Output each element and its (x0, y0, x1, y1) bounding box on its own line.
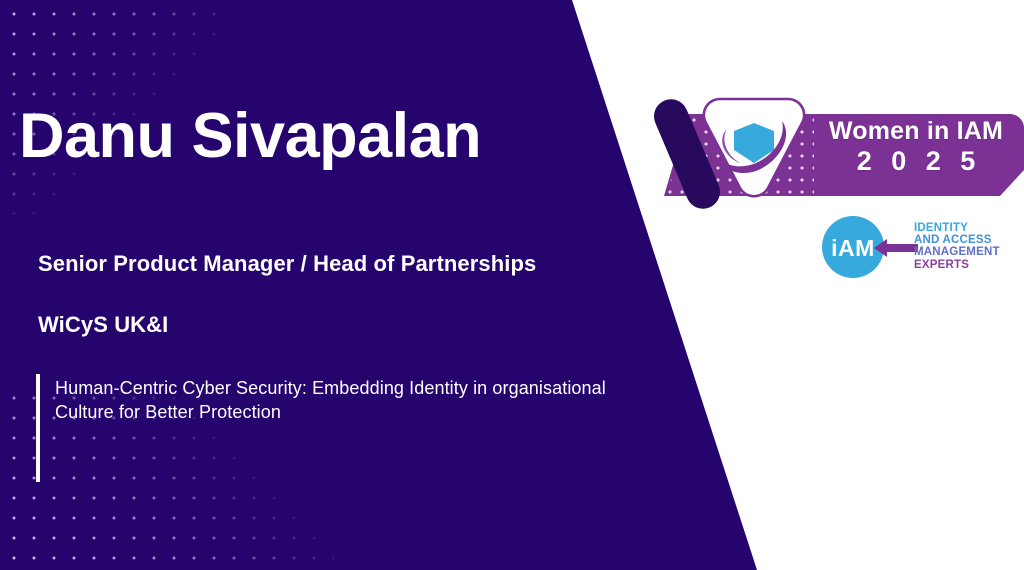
sponsor-tagline-line-2: AND ACCESS (914, 234, 1022, 246)
sponsor-tagline: IDENTITY AND ACCESS MANAGEMENT EXPERTS (914, 222, 1022, 271)
badge-year: 2 0 2 5 (816, 146, 1016, 177)
event-badge: Women in IAM 2 0 2 5 (664, 96, 1024, 201)
shield-orbit-icon (698, 93, 810, 203)
sponsor-tagline-line-3: MANAGEMENT (914, 246, 1022, 258)
speaker-slide: Danu Sivapalan Senior Product Manager / … (0, 0, 1024, 570)
left-arrow-icon (874, 238, 918, 258)
sponsor-tagline-line-1: IDENTITY (914, 222, 1022, 234)
speaker-organisation: WiCyS UK&I (38, 312, 168, 338)
title-accent-bar (36, 374, 40, 482)
speaker-name: Danu Sivapalan (19, 103, 481, 169)
sponsor-tagline-line-4: EXPERTS (914, 259, 1022, 271)
talk-title: Human-Centric Cyber Security: Embedding … (55, 377, 615, 425)
sponsor-logo: iAM IDENTITY AND ACCESS MANAGEMENT EXPER… (822, 216, 1022, 292)
badge-title: Women in IAM (816, 118, 1016, 146)
speaker-role: Senior Product Manager / Head of Partner… (38, 251, 536, 277)
svg-text:iAM: iAM (831, 235, 875, 261)
badge-text-group: Women in IAM 2 0 2 5 (816, 118, 1016, 177)
